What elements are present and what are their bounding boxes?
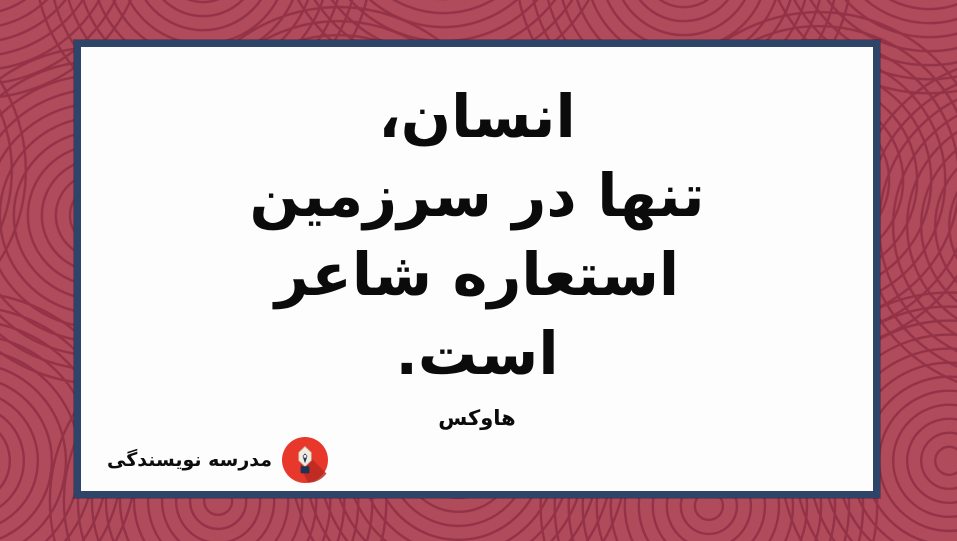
slide-canvas: انسان، تنها در سرزمین استعاره شاعر است. … bbox=[0, 0, 957, 541]
quote-block: انسان، تنها در سرزمین استعاره شاعر است. bbox=[81, 77, 873, 393]
quote-line-2: تنها در سرزمین bbox=[81, 156, 873, 235]
quote-author: هاوکس bbox=[81, 405, 873, 431]
brand-name-label: مدرسه نویسندگی bbox=[107, 448, 272, 472]
card-frame: انسان، تنها در سرزمین استعاره شاعر است. … bbox=[74, 40, 880, 498]
quote-line-1: انسان، bbox=[81, 77, 873, 156]
quote-line-4: است. bbox=[81, 314, 873, 393]
quote-card: انسان، تنها در سرزمین استعاره شاعر است. … bbox=[81, 47, 873, 491]
quote-line-3: استعاره شاعر bbox=[81, 235, 873, 314]
brand-row: مدرسه نویسندگی bbox=[107, 433, 332, 487]
fountain-pen-nib-logo-icon bbox=[278, 433, 332, 487]
